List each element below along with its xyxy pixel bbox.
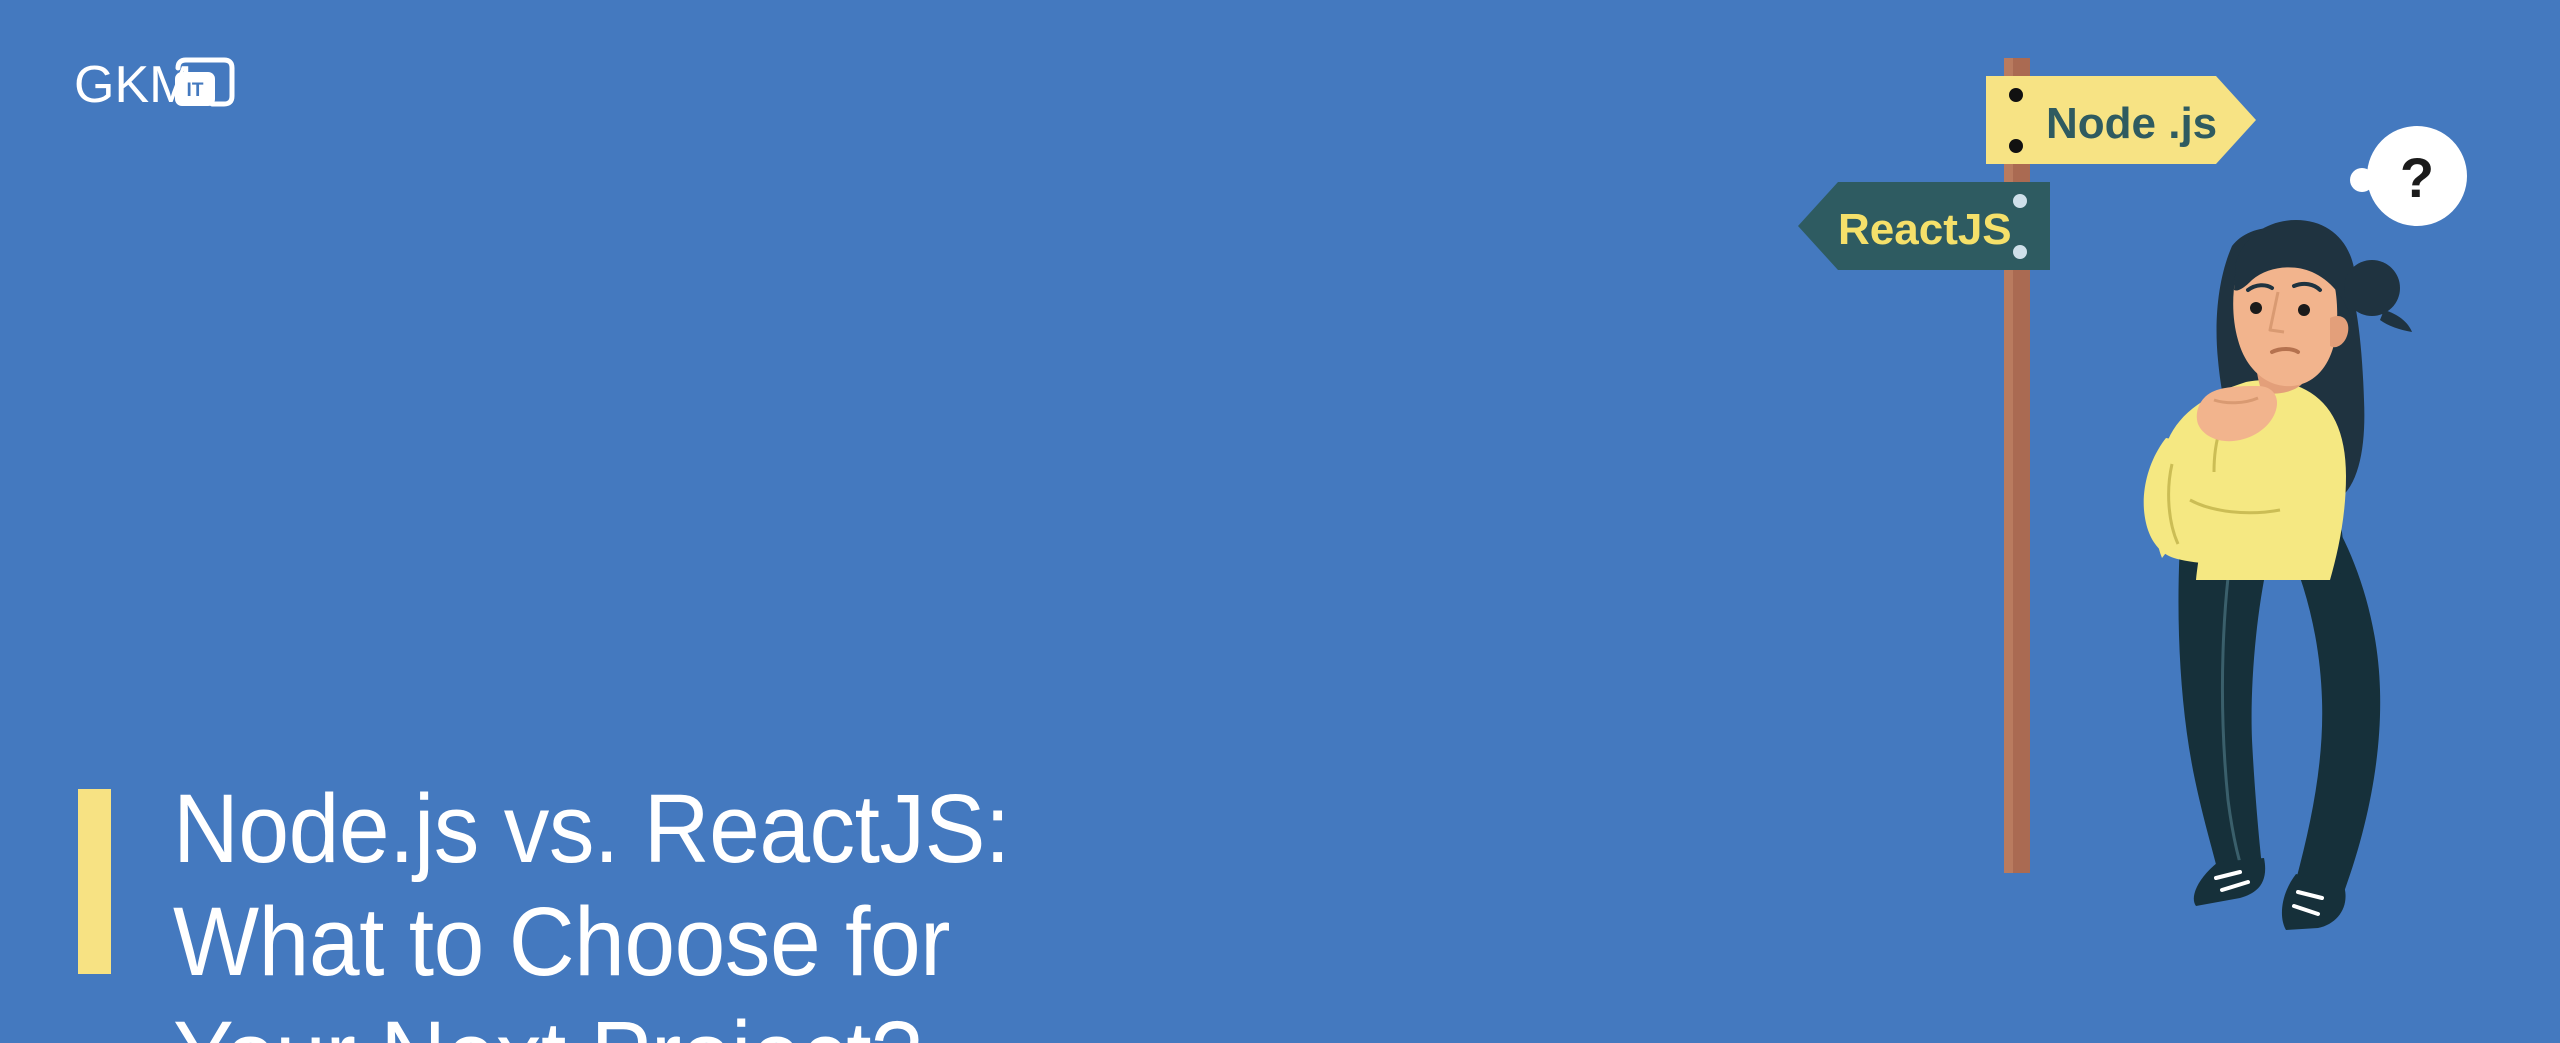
page-title: Node.js vs. ReactJS: What to Choose for … <box>173 772 1141 1043</box>
woman-eye-right <box>2298 304 2310 316</box>
shoe-left <box>2194 858 2265 906</box>
woman-hair-bun-wisp <box>2380 310 2412 332</box>
woman-eye-left <box>2250 302 2262 314</box>
question-mark-icon: ? <box>2400 146 2434 209</box>
thought-bubble: ? <box>2350 126 2467 226</box>
title-accent-bar <box>78 789 111 974</box>
page-title-block: Node.js vs. ReactJS: What to Choose for … <box>78 772 1203 1043</box>
woman-head <box>2233 220 2412 386</box>
woman-hair-bun <box>2344 260 2400 316</box>
blog-banner: GKM IT Node .js <box>0 0 2560 1043</box>
